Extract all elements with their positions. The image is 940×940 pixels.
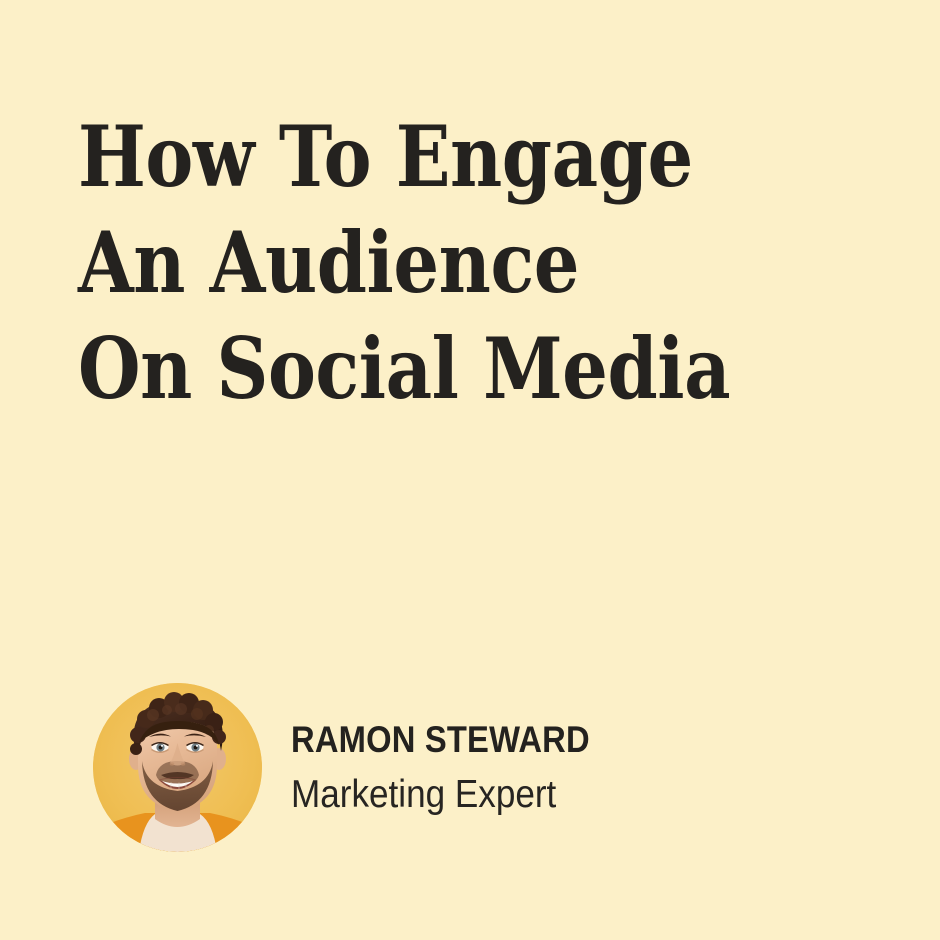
author-text-block: RAMON STEWARD Marketing Expert [291, 683, 629, 819]
avatar [93, 683, 262, 852]
headline-line-2: An Audience [78, 210, 711, 316]
poster-canvas: How To Engage An Audience On Social Medi… [0, 0, 940, 940]
author-name: RAMON STEWARD [291, 720, 590, 760]
headline-line-1: How To Engage [78, 104, 711, 210]
headline-line-3: On Social Media [78, 316, 711, 422]
avatar-photo [93, 683, 262, 852]
author-byline: RAMON STEWARD Marketing Expert [93, 683, 813, 863]
page-title: How To Engage An Audience On Social Medi… [78, 104, 818, 422]
author-role: Marketing Expert [291, 771, 595, 819]
